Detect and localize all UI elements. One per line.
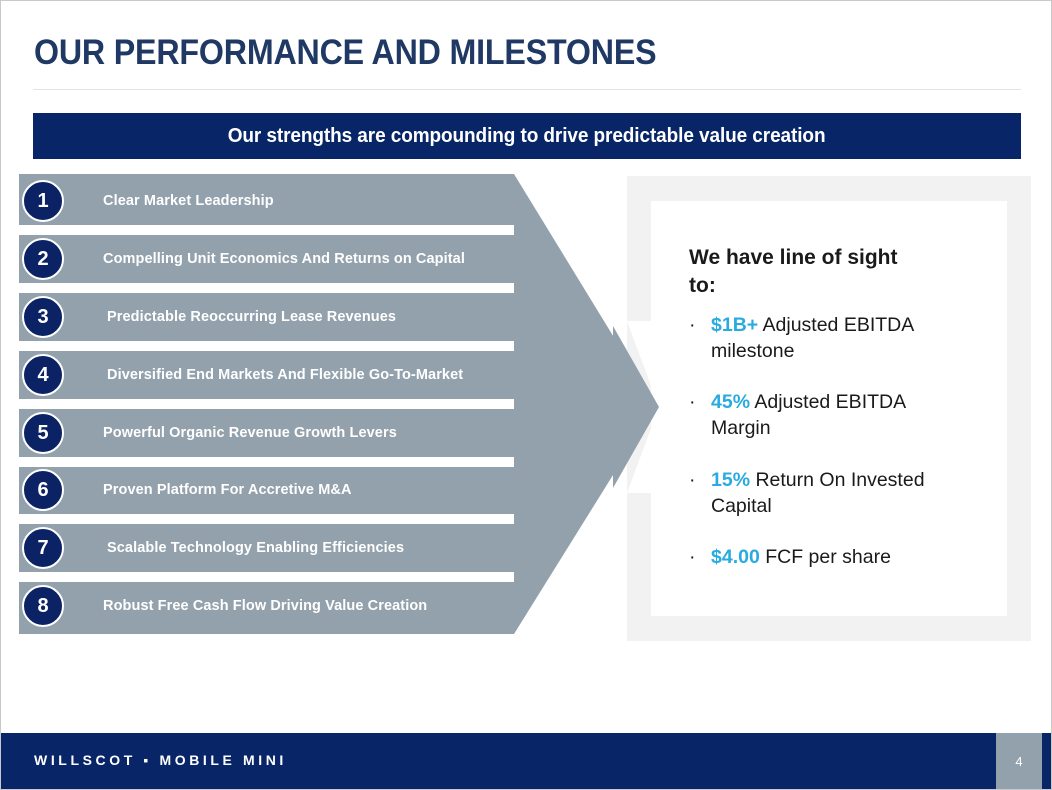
outlook-bullet: ·45% Adjusted EBITDA Margin [689,390,957,441]
bullet-dot-icon: · [689,468,696,494]
strength-label: Diversified End Markets And Flexible Go-… [107,367,463,383]
arrow-separator [19,514,514,524]
arrow-separator [19,283,514,293]
headline-banner-text: Our strengths are compounding to drive p… [228,125,826,148]
arrow-separator [19,341,514,351]
slide: OUR PERFORMANCE AND MILESTONES Our stren… [0,0,1052,790]
outlook-bullet-value: $4.00 [711,546,760,568]
strength-label: Proven Platform For Accretive M&A [103,482,352,498]
strength-number-badge: 4 [22,354,64,396]
strength-label: Robust Free Cash Flow Driving Value Crea… [103,598,427,614]
outlook-heading: We have line of sight to: [689,244,929,299]
arrow-separator [19,225,514,235]
strength-label: Clear Market Leadership [103,193,274,209]
outlook-bullet: ·$4.00 FCF per share [689,545,957,571]
arrow-separator [19,399,514,409]
arrow-separator [19,457,514,467]
page-number: 4 [1015,754,1022,769]
bullet-dot-icon: · [689,545,696,571]
strength-number-badge: 6 [22,469,64,511]
outlook-bullet: ·$1B+ Adjusted EBITDA milestone [689,313,957,364]
outlook-bullets: ·$1B+ Adjusted EBITDA milestone·45% Adju… [689,313,957,597]
strength-number-badge: 3 [22,296,64,338]
title-divider [33,89,1021,90]
strength-label: Compelling Unit Economics And Returns on… [103,251,465,267]
arrow-separator [19,572,514,582]
outlook-bullet-value: $1B+ [711,314,758,336]
strength-number-badge: 5 [22,412,64,454]
strength-number-badge: 7 [22,527,64,569]
strength-label: Scalable Technology Enabling Efficiencie… [107,540,404,556]
strengths-arrow-diagram: 1Clear Market Leadership2Compelling Unit… [19,174,659,634]
strength-number-badge: 8 [22,585,64,627]
bullet-dot-icon: · [689,313,696,339]
strength-label: Powerful Organic Revenue Growth Levers [103,425,397,441]
outlook-bullet-text: FCF per share [760,546,891,568]
page-number-box: 4 [996,733,1042,789]
headline-banner: Our strengths are compounding to drive p… [33,113,1021,159]
strength-number-badge: 1 [22,180,64,222]
slide-footer: WILLSCOT ▪ MOBILE MINI 4 [1,733,1052,789]
page-title: OUR PERFORMANCE AND MILESTONES [34,33,656,73]
outlook-bullet-value: 45% [711,391,750,413]
brand-logo: WILLSCOT ▪ MOBILE MINI [34,752,287,768]
outlook-bullet-value: 15% [711,469,750,491]
outlook-bullet: ·15% Return On Invested Capital [689,468,957,519]
strength-number-badge: 2 [22,238,64,280]
strength-label: Predictable Reoccurring Lease Revenues [107,309,396,325]
bullet-dot-icon: · [689,390,696,416]
